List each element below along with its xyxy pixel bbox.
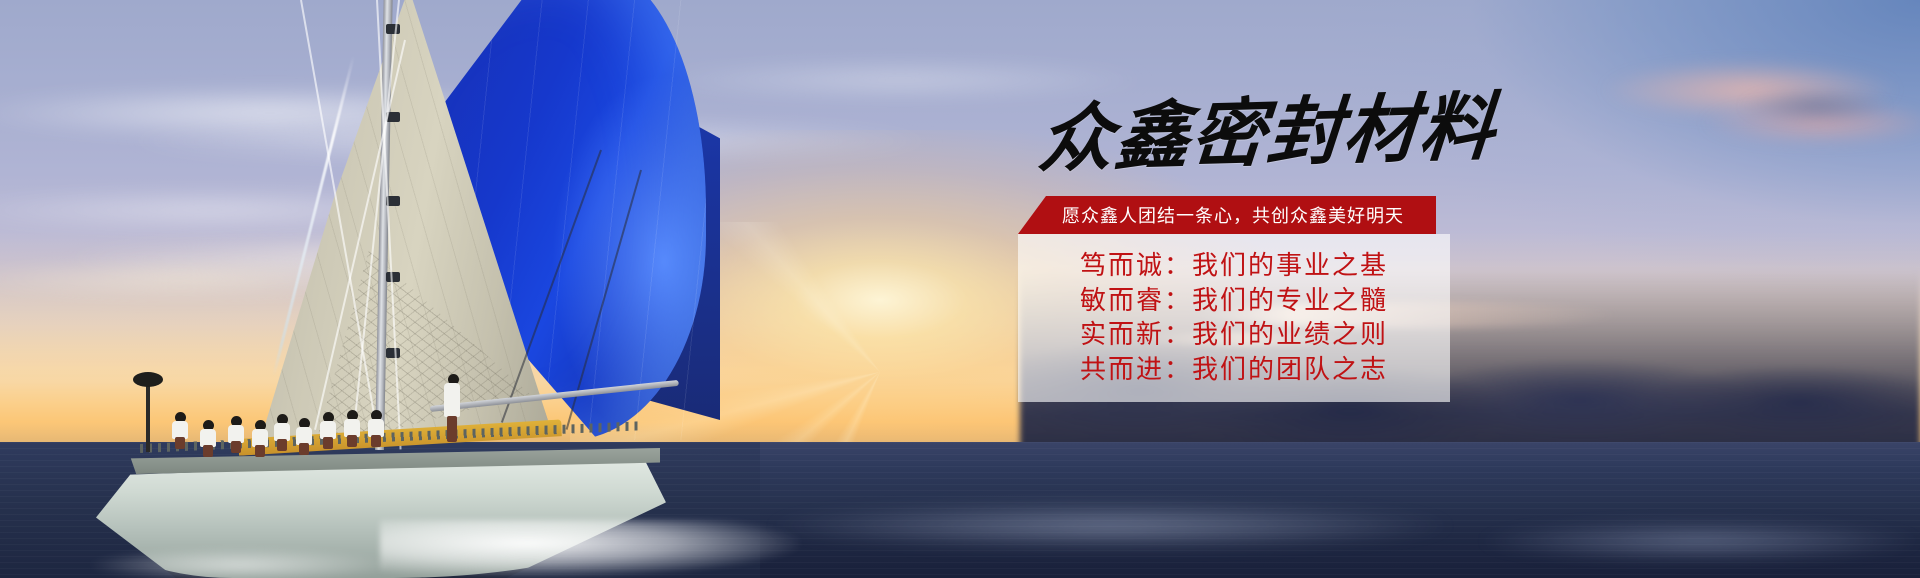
tagline-ribbon: 愿众鑫人团结一条心，共创众鑫美好明天: [1018, 196, 1436, 234]
crew-member: [228, 416, 244, 450]
bow-spray: [90, 548, 390, 578]
crew-member: [368, 410, 384, 444]
bow-wake: [380, 520, 800, 578]
crew-member: [320, 412, 336, 446]
slogan-panel: 笃而诚：我们的事业之基 敏而睿：我们的专业之髓 实而新：我们的业绩之则 共而进：…: [1018, 234, 1450, 402]
slogan-line-3: 实而新：我们的业绩之则: [1018, 317, 1450, 352]
crew-member: [200, 420, 216, 454]
mast-fitting: [386, 24, 400, 34]
mast-fitting: [386, 348, 400, 358]
sailboat: [0, 0, 780, 578]
slogan-line-2: 敏而睿：我们的专业之髓: [1018, 283, 1450, 318]
slogan-line-4: 共而进：我们的团队之志: [1018, 352, 1450, 387]
crew-member: [172, 412, 188, 446]
hero-banner: 众鑫密封材料 愿众鑫人团结一条心，共创众鑫美好明天 笃而诚：我们的事业之基 敏而…: [0, 0, 1920, 578]
crew-member: [344, 410, 360, 444]
slogan-line-1: 笃而诚：我们的事业之基: [1018, 248, 1450, 283]
mast-fitting: [386, 272, 400, 282]
radar-dome: [133, 372, 163, 387]
stern-pole: [146, 382, 150, 452]
banner-content: 众鑫密封材料 愿众鑫人团结一条心，共创众鑫美好明天 笃而诚：我们的事业之基 敏而…: [1030, 104, 1500, 402]
crew-member: [274, 414, 290, 448]
crew-member: [252, 420, 268, 454]
crew-member: [296, 418, 312, 452]
brand-title: 众鑫密封材料: [1030, 91, 1507, 178]
crew-member-standing: [444, 374, 464, 440]
tagline-text: 愿众鑫人团结一条心，共创众鑫美好明天: [1062, 202, 1404, 228]
